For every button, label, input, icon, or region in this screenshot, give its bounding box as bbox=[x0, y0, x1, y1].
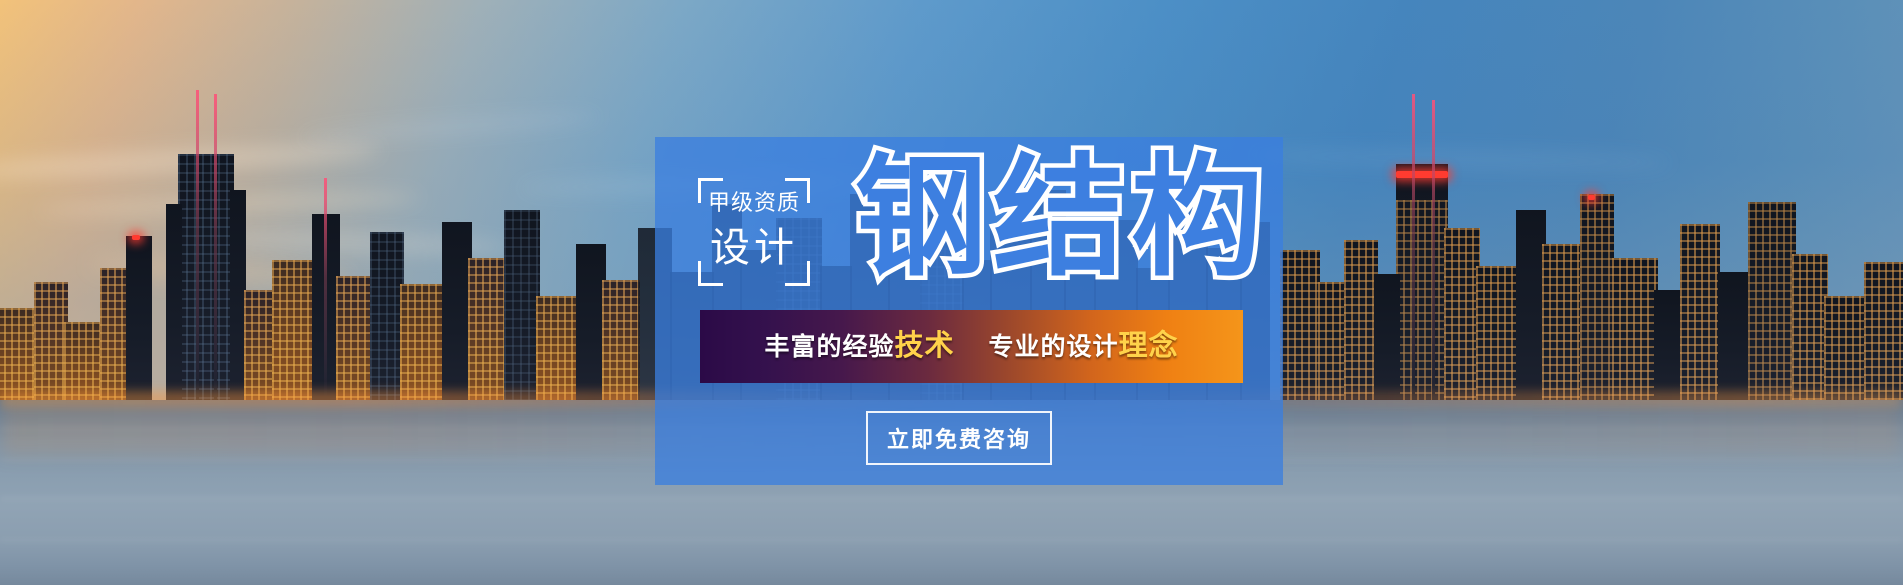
window-lights bbox=[400, 284, 446, 400]
tagline-base-text: 丰富的经验 bbox=[764, 333, 894, 361]
window-lights bbox=[272, 260, 316, 400]
window-lights bbox=[1864, 262, 1903, 400]
building bbox=[1718, 272, 1752, 400]
window-lights bbox=[336, 276, 374, 400]
window-lights bbox=[1580, 194, 1614, 400]
window-lights bbox=[1318, 282, 1346, 400]
antenna-spire bbox=[1412, 94, 1415, 400]
tagline-bar: 丰富的经验技术 专业的设计理念 bbox=[700, 310, 1243, 383]
qualification-badge: 甲级资质 设计 bbox=[698, 178, 810, 286]
antenna-spire bbox=[1432, 100, 1435, 400]
window-lights bbox=[178, 154, 234, 400]
window-lights bbox=[1680, 224, 1720, 400]
beacon-light bbox=[1396, 171, 1448, 178]
badge-category-text: 设计 bbox=[698, 228, 810, 268]
window-lights bbox=[1280, 250, 1320, 400]
window-lights bbox=[1476, 266, 1520, 400]
water-ripple bbox=[0, 538, 1903, 542]
window-lights bbox=[536, 296, 580, 400]
window-lights bbox=[1824, 296, 1868, 400]
tagline-item: 专业的设计理念 bbox=[989, 332, 1179, 361]
window-lights bbox=[34, 282, 68, 400]
window-lights bbox=[1612, 258, 1658, 400]
window-lights bbox=[370, 232, 404, 400]
antenna-spire bbox=[196, 90, 199, 400]
window-lights bbox=[1748, 202, 1796, 400]
beacon-light bbox=[1588, 195, 1595, 200]
tagline-highlight-text: 技术 bbox=[894, 330, 954, 362]
water-ripple bbox=[0, 496, 1903, 502]
antenna-spire bbox=[214, 94, 217, 400]
building bbox=[1374, 274, 1400, 400]
badge-qualification-text: 甲级资质 bbox=[698, 192, 810, 214]
tagline-highlight-text: 理念 bbox=[1119, 330, 1179, 362]
window-lights bbox=[468, 258, 508, 400]
tagline-item: 丰富的经验技术 bbox=[764, 332, 954, 361]
window-lights bbox=[1344, 240, 1378, 400]
window-lights bbox=[1792, 254, 1828, 400]
building bbox=[126, 236, 152, 400]
window-lights bbox=[1542, 244, 1582, 400]
window-lights bbox=[0, 308, 38, 400]
antenna-spire bbox=[324, 178, 327, 400]
free-consultation-button[interactable]: 立即免费咨询 bbox=[866, 411, 1052, 465]
window-lights bbox=[602, 280, 640, 400]
window-lights bbox=[504, 210, 540, 400]
beacon-light bbox=[132, 235, 140, 240]
building bbox=[166, 204, 182, 400]
window-lights bbox=[1396, 200, 1448, 400]
page-title: 钢结构 bbox=[855, 152, 1269, 284]
tagline-base-text: 专业的设计 bbox=[989, 333, 1119, 361]
window-lights bbox=[1444, 228, 1480, 400]
hero-banner: 甲级资质 设计 钢结构 丰富的经验技术 专业的设计理念 立即免费咨询 bbox=[0, 0, 1903, 585]
